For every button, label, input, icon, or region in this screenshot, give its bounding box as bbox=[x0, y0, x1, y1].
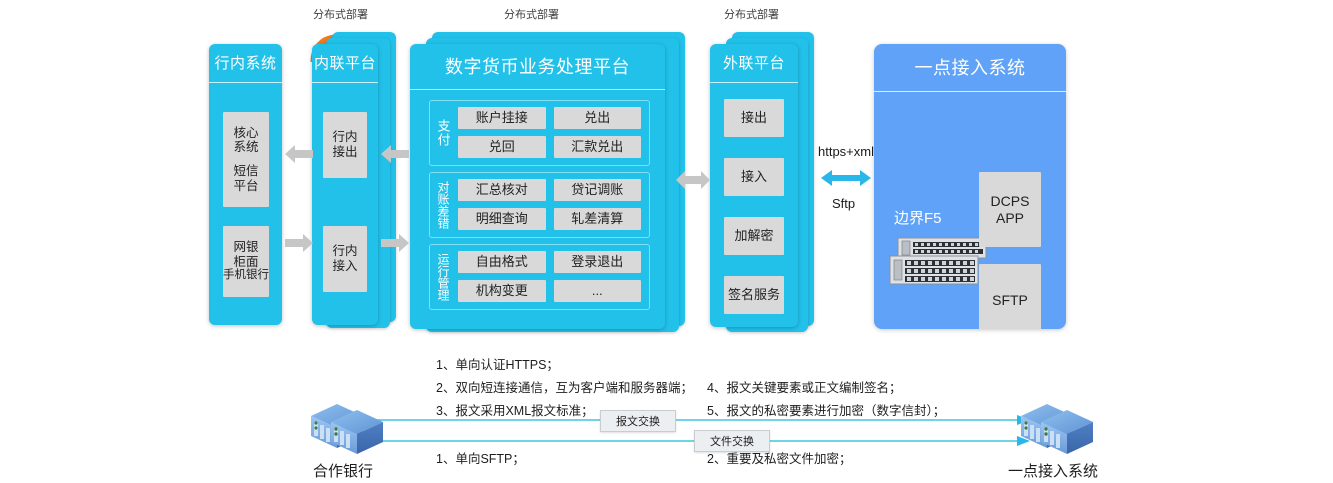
group-label-payment: 支付 bbox=[430, 101, 456, 165]
chip-line: 短信 bbox=[233, 164, 258, 179]
chip-line: 系统 bbox=[233, 140, 258, 155]
group-cells-reconciliation: 汇总核对 贷记调账 明细查询 轧差清算 bbox=[456, 173, 649, 237]
distributed-deploy-label-external: 分布式部署 bbox=[724, 6, 779, 22]
chip-intranet-out[interactable]: 行内 接出 bbox=[323, 112, 367, 178]
chip-sftp[interactable]: SFTP bbox=[979, 264, 1041, 329]
panel-bank-internal-system[interactable]: 行内系统 核心 系统 短信 平台 网银 柜面 手机银行 bbox=[209, 44, 282, 325]
panel-external-platform[interactable]: 外联平台 接出 接入 加解密 签名服务 bbox=[710, 44, 798, 327]
chip-ebank-counter-mobile[interactable]: 网银 柜面 手机银行 bbox=[223, 226, 269, 297]
panel-title-dcep-platform: 数字货币业务处理平台 bbox=[410, 44, 665, 90]
group-label-operations: 运行管理 bbox=[430, 245, 456, 309]
panel-intranet-platform[interactable]: 内联平台 行内 接出 行内 接入 bbox=[312, 44, 378, 325]
chip-detail-query[interactable]: 明细查询 bbox=[458, 208, 546, 230]
message-note-right-4: 4、报文关键要素或正文编制签名； bbox=[707, 377, 901, 396]
chip-exchange-back[interactable]: 兑回 bbox=[458, 136, 546, 158]
group-cells-payment: 账户挂接 兑出 兑回 汇款兑出 bbox=[456, 101, 649, 165]
chip-dcps-app[interactable]: DCPS APP bbox=[979, 172, 1041, 247]
arrow-intranet-out-from-dcep-icon bbox=[381, 144, 409, 164]
arrow-dcep-external-bidirectional-icon bbox=[676, 170, 710, 190]
message-note-left-1: 1、单向认证HTTPS； bbox=[436, 354, 559, 373]
architecture-diagram: 分布式部署 分布式部署 分布式部署 行内系统 核心 系统 短信 平台 网银 柜面… bbox=[0, 0, 1333, 483]
group-operations: 运行管理 自由格式 登录退出 机构变更 ... bbox=[429, 244, 650, 310]
chip-line: 平台 bbox=[233, 179, 258, 194]
link-label-sftp: Sftp bbox=[832, 196, 855, 211]
panel-title-single-access-system: 一点接入系统 bbox=[874, 44, 1066, 92]
chip-line: 接出 bbox=[332, 145, 357, 160]
f5-boundary-label: 边界F5 bbox=[894, 207, 942, 228]
group-payment: 支付 账户挂接 兑出 兑回 汇款兑出 bbox=[429, 100, 650, 166]
group-reconciliation: 对账差错 汇总核对 贷记调账 明细查询 轧差清算 bbox=[429, 172, 650, 238]
chip-line: 手机银行 bbox=[223, 269, 269, 283]
panel-title-intranet-platform: 内联平台 bbox=[312, 44, 378, 83]
distributed-deploy-label-dcep: 分布式部署 bbox=[504, 6, 559, 22]
arrow-external-to-access-bidirectional-icon bbox=[821, 168, 871, 188]
arrow-intranet-in-to-dcep-icon bbox=[381, 233, 409, 253]
chip-line: 接入 bbox=[332, 259, 357, 274]
chip-line: 柜面 bbox=[233, 255, 258, 270]
node-label-partner-bank: 合作银行 bbox=[295, 460, 391, 481]
file-note-left-1: 1、单向SFTP； bbox=[436, 448, 525, 467]
chip-more[interactable]: ... bbox=[554, 280, 642, 302]
panel-single-access-system[interactable]: 一点接入系统 边界F5 bbox=[874, 44, 1066, 329]
partner-bank-server-icon bbox=[295, 400, 391, 458]
chip-external-in[interactable]: 接入 bbox=[724, 158, 784, 196]
f5-appliance-icon bbox=[890, 236, 990, 288]
chip-intranet-in[interactable]: 行内 接入 bbox=[323, 226, 367, 292]
chip-netting-settlement[interactable]: 轧差清算 bbox=[554, 208, 642, 230]
chip-core-system[interactable]: 核心 系统 短信 平台 bbox=[223, 112, 269, 207]
panel-dcep-platform[interactable]: 数字货币业务处理平台 支付 账户挂接 兑出 兑回 汇款兑出 对账差错 汇总核对 … bbox=[410, 44, 665, 329]
chip-org-change[interactable]: 机构变更 bbox=[458, 280, 546, 302]
chip-line: 行内 bbox=[332, 244, 357, 259]
message-note-left-2: 2、双向短连接通信，互为客户端和服务器端； bbox=[436, 377, 693, 396]
chip-line: 核心 bbox=[233, 126, 258, 141]
group-label-reconciliation: 对账差错 bbox=[430, 173, 456, 237]
file-note-right-2: 2、重要及私密文件加密； bbox=[707, 448, 851, 467]
chip-line: 行内 bbox=[332, 130, 357, 145]
single-access-server-icon bbox=[1005, 400, 1101, 458]
chip-line: APP bbox=[996, 210, 1024, 227]
node-label-single-access: 一点接入系统 bbox=[993, 460, 1113, 481]
chip-remittance-out[interactable]: 汇款兑出 bbox=[554, 136, 642, 158]
chip-line: DCPS bbox=[991, 193, 1030, 210]
chip-external-out[interactable]: 接出 bbox=[724, 99, 784, 137]
chip-exchange-out[interactable]: 兑出 bbox=[554, 107, 642, 129]
panel-title-external-platform: 外联平台 bbox=[710, 44, 798, 83]
exchange-label-message: 报文交换 bbox=[600, 410, 676, 432]
arrow-core-from-intranet-out-icon bbox=[285, 144, 313, 164]
chip-encrypt-decrypt[interactable]: 加解密 bbox=[724, 217, 784, 255]
link-label-https-xml: https+xml bbox=[818, 144, 874, 159]
chip-account-link[interactable]: 账户挂接 bbox=[458, 107, 546, 129]
transport-lines bbox=[340, 412, 1030, 448]
chip-free-format[interactable]: 自由格式 bbox=[458, 251, 546, 273]
panel-title-bank-internal-system: 行内系统 bbox=[209, 44, 282, 83]
arrow-ebank-to-intranet-in-icon bbox=[285, 233, 313, 253]
chip-credit-adjust[interactable]: 贷记调账 bbox=[554, 179, 642, 201]
chip-summary-check[interactable]: 汇总核对 bbox=[458, 179, 546, 201]
chip-signature-service[interactable]: 签名服务 bbox=[724, 276, 784, 314]
chip-login-logout[interactable]: 登录退出 bbox=[554, 251, 642, 273]
distributed-deploy-label-intranet: 分布式部署 bbox=[313, 6, 368, 22]
chip-line: 网银 bbox=[233, 240, 258, 255]
group-cells-operations: 自由格式 登录退出 机构变更 ... bbox=[456, 245, 649, 309]
